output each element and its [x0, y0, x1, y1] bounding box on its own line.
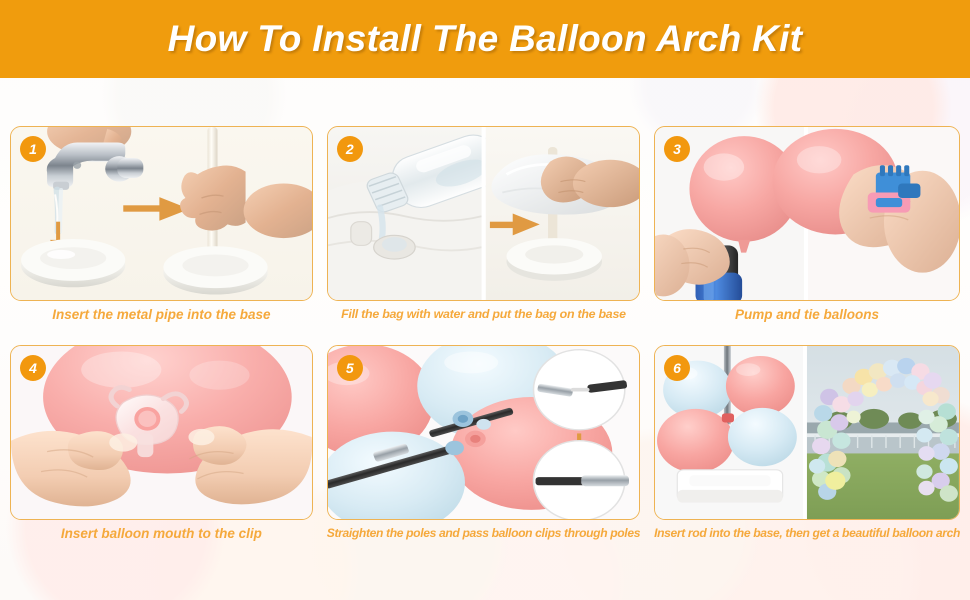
step-panel-2[interactable]: 2	[327, 126, 640, 301]
step-photo-2	[328, 127, 639, 300]
step-cell-1: 1	[10, 126, 313, 327]
step-badge-4: 4	[20, 355, 46, 381]
finished-arch-illustration	[655, 346, 959, 519]
step-caption-6: Insert rod into the base, then get a bea…	[654, 520, 960, 546]
header-banner: How To Install The Balloon Arch Kit	[0, 0, 970, 78]
poles-and-clips-illustration	[328, 346, 639, 519]
step-cell-2: 2	[327, 126, 640, 327]
page-title: How To Install The Balloon Arch Kit	[168, 18, 803, 60]
step-caption-4: Insert balloon mouth to the clip	[10, 520, 313, 546]
step-cell-3: 3	[654, 126, 960, 327]
step-badge-1: 1	[20, 136, 46, 162]
step-panel-6[interactable]: 6	[654, 345, 960, 520]
step-panel-1[interactable]: 1	[10, 126, 313, 301]
step-photo-5	[328, 346, 639, 519]
step-panel-4[interactable]: 4	[10, 345, 313, 520]
step-caption-3: Pump and tie balloons	[654, 301, 960, 327]
step-photo-4	[11, 346, 312, 519]
steps-grid: 1	[10, 126, 960, 546]
step-cell-4: 4	[10, 345, 313, 546]
step-badge-5: 5	[337, 355, 363, 381]
pump-and-tie-illustration	[655, 127, 959, 300]
step-caption-5: Straighten the poles and pass balloon cl…	[327, 520, 640, 546]
faucet-and-base-illustration	[11, 127, 312, 300]
clip-insert-illustration	[11, 346, 312, 519]
step-panel-3[interactable]: 3	[654, 126, 960, 301]
step-cell-5: 5	[327, 345, 640, 546]
step-photo-1	[11, 127, 312, 300]
infographic-page: How To Install The Balloon Arch Kit 1	[0, 0, 970, 600]
step-caption-1: Insert the metal pipe into the base	[10, 301, 313, 327]
step-panel-5[interactable]: 5	[327, 345, 640, 520]
water-bag-illustration	[328, 127, 639, 300]
step-badge-2: 2	[337, 136, 363, 162]
step-caption-2: Fill the bag with water and put the bag …	[327, 301, 640, 327]
step-cell-6: 6	[654, 345, 960, 546]
step-photo-3	[655, 127, 959, 300]
step-badge-6: 6	[664, 355, 690, 381]
step-photo-6	[655, 346, 959, 519]
step-badge-3: 3	[664, 136, 690, 162]
